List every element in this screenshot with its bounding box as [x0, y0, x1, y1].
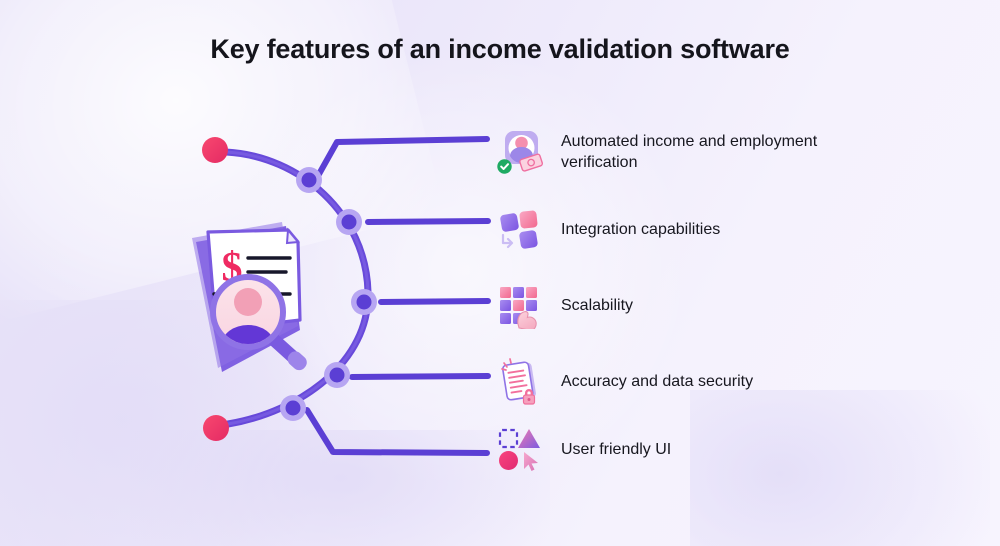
- connector-line-4: [352, 376, 488, 377]
- income-document-illustration: $: [192, 222, 310, 373]
- feature-item-accuracy-and-data-security[interactable]: Accuracy and data security: [497, 357, 753, 405]
- feature-label: Accuracy and data security: [561, 371, 753, 392]
- endpoint-bottom: [203, 415, 229, 441]
- arc-node-5[interactable]: [280, 395, 306, 421]
- endpoint-top: [202, 137, 228, 163]
- feature-label: Automated income and employment verifica…: [561, 131, 891, 173]
- triangle: [518, 429, 540, 448]
- feature-label: Scalability: [561, 295, 633, 316]
- arc-node-3[interactable]: [351, 289, 377, 315]
- feature-item-integration-capabilities[interactable]: Integration capabilities: [497, 205, 720, 253]
- feature-list: Automated income and employment verifica…: [497, 0, 957, 546]
- connector-line-5: [307, 410, 487, 453]
- feature-item-user-friendly-ui[interactable]: User friendly UI: [497, 425, 671, 473]
- feature-label: User friendly UI: [561, 439, 671, 460]
- avatar-head: [234, 288, 262, 316]
- connector-line-1: [314, 139, 487, 183]
- arc-node-4[interactable]: [324, 362, 350, 388]
- feature-item-scalability[interactable]: Scalability: [497, 281, 633, 329]
- feature-label: Integration capabilities: [561, 219, 720, 240]
- feature-item-automated-income-and-employment-verification[interactable]: Automated income and employment verifica…: [497, 128, 891, 176]
- cursor-arrow: [524, 452, 538, 471]
- arc-node-2[interactable]: [336, 209, 362, 235]
- arc-node-1[interactable]: [296, 167, 322, 193]
- document-lock-icon: [497, 357, 545, 405]
- stacked-squares-icon: [497, 205, 545, 253]
- infographic-canvas: Key features of an income validation sof…: [0, 0, 1000, 546]
- shapes-cursor-icon: [497, 425, 545, 473]
- document-fold-corner: [287, 230, 298, 243]
- grid-with-hand-icon: [497, 281, 545, 329]
- dashed-square: [500, 430, 517, 447]
- circle-shape: [499, 451, 518, 470]
- connector-line-3: [381, 301, 488, 302]
- connector-line-2: [368, 221, 488, 222]
- person-badge-money-icon: [497, 128, 545, 176]
